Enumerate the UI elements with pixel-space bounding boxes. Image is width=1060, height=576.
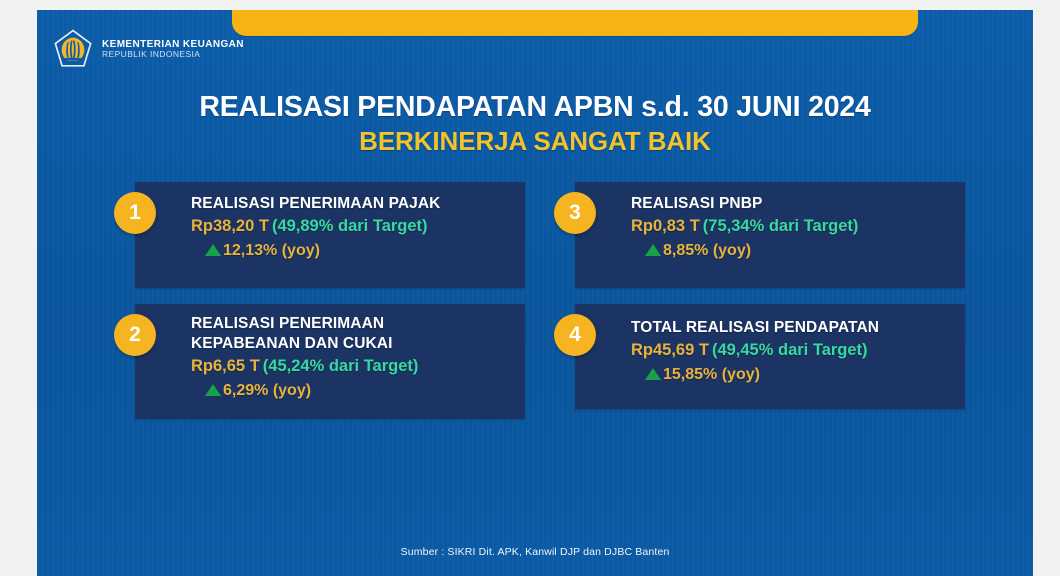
card-yoy-row: 12,13% (yoy) (191, 239, 515, 262)
kemenkeu-shield-logo-icon (52, 28, 94, 70)
triangle-up-icon (205, 384, 221, 396)
card-amount-row: Rp6,65 T(45,24% dari Target) (191, 355, 515, 378)
card-number-badge-2: 2 (114, 314, 156, 356)
triangle-up-icon (645, 244, 661, 256)
logo-country-name: REPUBLIK INDONESIA (102, 50, 244, 60)
card-title-line2: KEPABEANAN DAN CUKAI (191, 334, 515, 354)
page-subtitle: BERKINERJA SANGAT BAIK (37, 126, 1033, 157)
card-title-line1: REALISASI PENERIMAAN (191, 314, 515, 334)
page-title: REALISASI PENDAPATAN APBN s.d. 30 JUNI 2… (37, 92, 1033, 124)
metric-card-customs: REALISASI PENERIMAAN KEPABEANAN DAN CUKA… (135, 304, 525, 419)
card-amount-value: Rp6,65 T (191, 357, 260, 375)
card-amount-row: Rp38,20 T(49,89% dari Target) (191, 215, 515, 238)
triangle-up-icon (205, 244, 221, 256)
card-body: REALISASI PNBP Rp0,83 T(75,34% dari Targ… (631, 194, 955, 262)
card-body: TOTAL REALISASI PENDAPATAN Rp45,69 T(49,… (631, 318, 955, 386)
card-target-pct: (49,89% dari Target) (272, 217, 428, 235)
card-yoy-row: 8,85% (yoy) (631, 239, 955, 262)
slide-panel: KEMENTERIAN KEUANGAN REPUBLIK INDONESIA … (37, 10, 1033, 576)
card-yoy-value: 8,85% (yoy) (663, 242, 751, 259)
card-amount-value: Rp38,20 T (191, 217, 269, 235)
card-yoy-row: 6,29% (yoy) (191, 379, 515, 402)
triangle-up-icon (645, 368, 661, 380)
logo-lockup: KEMENTERIAN KEUANGAN REPUBLIK INDONESIA (52, 28, 244, 70)
card-amount-value: Rp0,83 T (631, 217, 700, 235)
top-accent-band (232, 10, 918, 36)
card-number-badge-3: 3 (554, 192, 596, 234)
card-amount-row: Rp45,69 T(49,45% dari Target) (631, 339, 955, 362)
metric-card-tax: REALISASI PENERIMAAN PAJAK Rp38,20 T(49,… (135, 182, 525, 288)
metric-card-pnbp: REALISASI PNBP Rp0,83 T(75,34% dari Targ… (575, 182, 965, 288)
heading-block: REALISASI PENDAPATAN APBN s.d. 30 JUNI 2… (37, 92, 1033, 157)
card-yoy-value: 15,85% (yoy) (663, 366, 760, 383)
logo-text-block: KEMENTERIAN KEUANGAN REPUBLIK INDONESIA (102, 39, 244, 60)
card-title: REALISASI PNBP (631, 194, 955, 214)
card-body: REALISASI PENERIMAAN KEPABEANAN DAN CUKA… (191, 314, 515, 402)
card-number-badge-4: 4 (554, 314, 596, 356)
card-amount-value: Rp45,69 T (631, 341, 709, 359)
metric-card-grid: REALISASI PENERIMAAN PAJAK Rp38,20 T(49,… (37, 172, 1033, 422)
card-target-pct: (45,24% dari Target) (263, 357, 419, 375)
source-footnote: Sumber : SIKRI Dit. APK, Kanwil DJP dan … (37, 546, 1033, 558)
card-body: REALISASI PENERIMAAN PAJAK Rp38,20 T(49,… (191, 194, 515, 262)
card-amount-row: Rp0,83 T(75,34% dari Target) (631, 215, 955, 238)
card-target-pct: (49,45% dari Target) (712, 341, 868, 359)
card-title: REALISASI PENERIMAAN PAJAK (191, 194, 515, 214)
metric-card-total-revenue: TOTAL REALISASI PENDAPATAN Rp45,69 T(49,… (575, 304, 965, 409)
slide-stage: KEMENTERIAN KEUANGAN REPUBLIK INDONESIA … (0, 0, 1060, 576)
card-title: TOTAL REALISASI PENDAPATAN (631, 318, 955, 338)
card-yoy-row: 15,85% (yoy) (631, 363, 955, 386)
card-number-badge-1: 1 (114, 192, 156, 234)
card-yoy-value: 6,29% (yoy) (223, 382, 311, 399)
card-target-pct: (75,34% dari Target) (703, 217, 859, 235)
card-yoy-value: 12,13% (yoy) (223, 242, 320, 259)
